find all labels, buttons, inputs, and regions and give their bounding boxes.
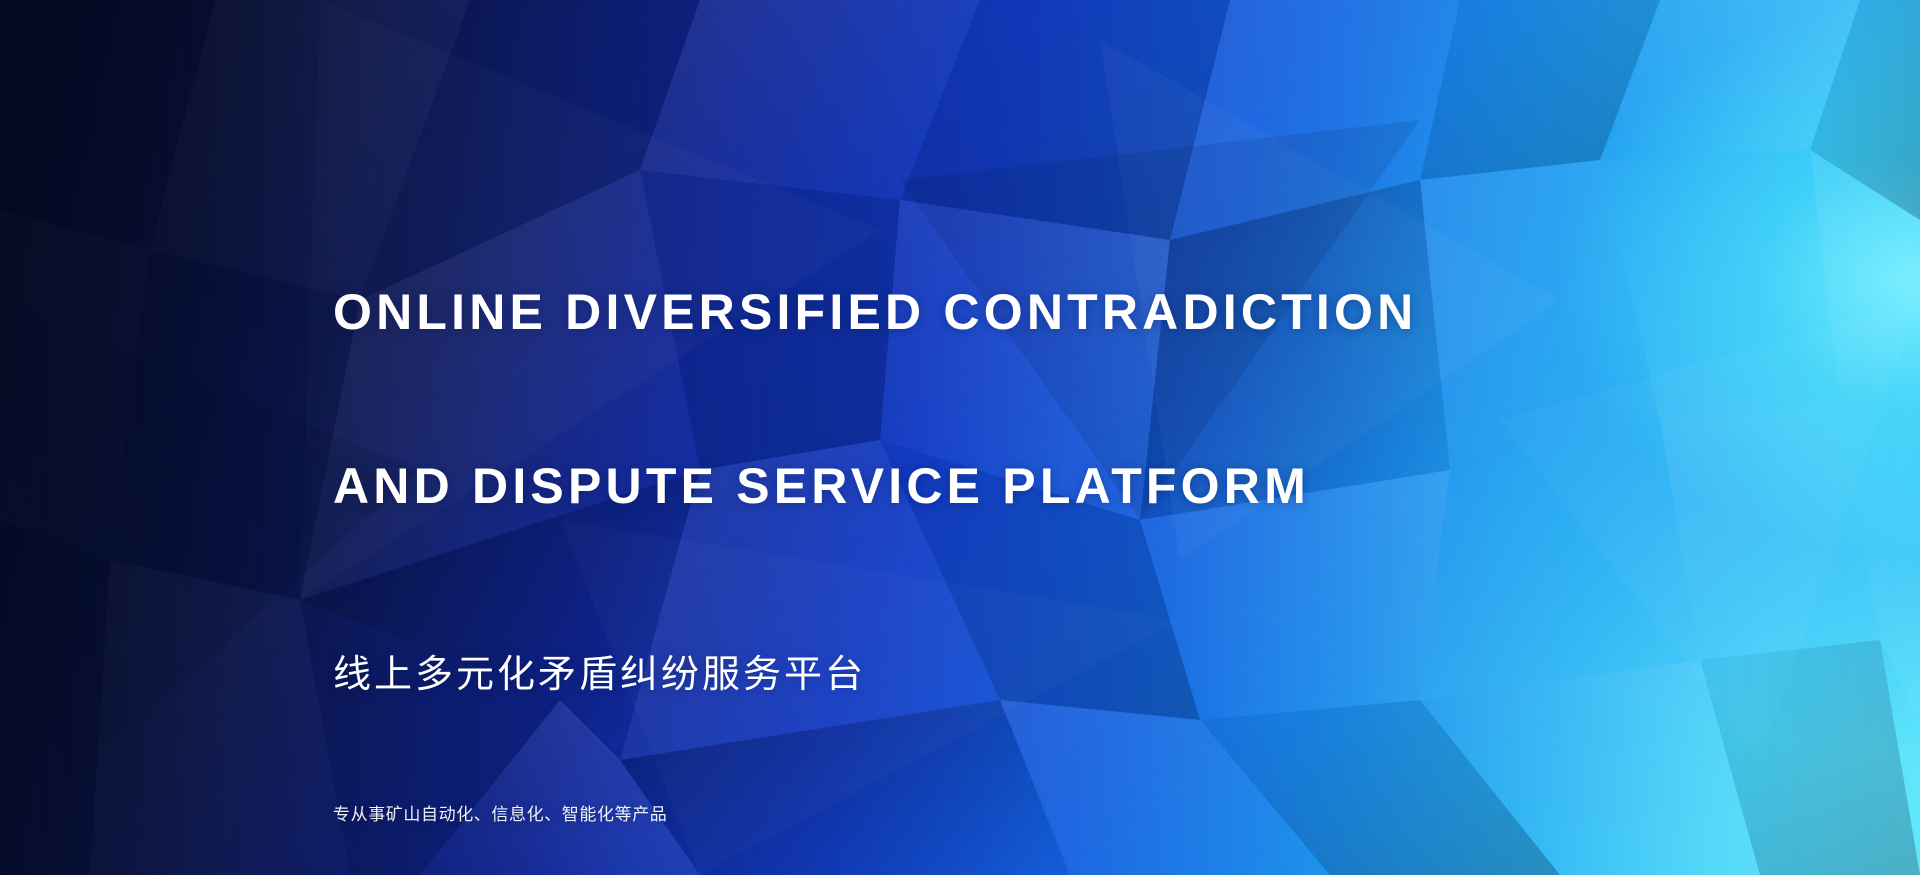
banner-title-english-line-2: AND DISPUTE SERVICE PLATFORM xyxy=(333,457,1417,515)
banner-description: 专从事矿山自动化、信息化、智能化等产品 集设计、研发、生产、销售及服务为一体的高… xyxy=(333,730,1417,875)
hero-banner: ONLINE DIVERSIFIED CONTRADICTION AND DIS… xyxy=(0,0,1920,875)
banner-title-english: ONLINE DIVERSIFIED CONTRADICTION AND DIS… xyxy=(333,167,1417,631)
banner-title-chinese: 线上多元化矛盾纠纷服务平台 xyxy=(333,651,1417,699)
banner-title-english-line-1: ONLINE DIVERSIFIED CONTRADICTION xyxy=(333,283,1417,341)
banner-description-line-1: 专从事矿山自动化、信息化、智能化等产品 xyxy=(333,798,1417,832)
hero-copy-block: ONLINE DIVERSIFIED CONTRADICTION AND DIS… xyxy=(333,167,1417,875)
